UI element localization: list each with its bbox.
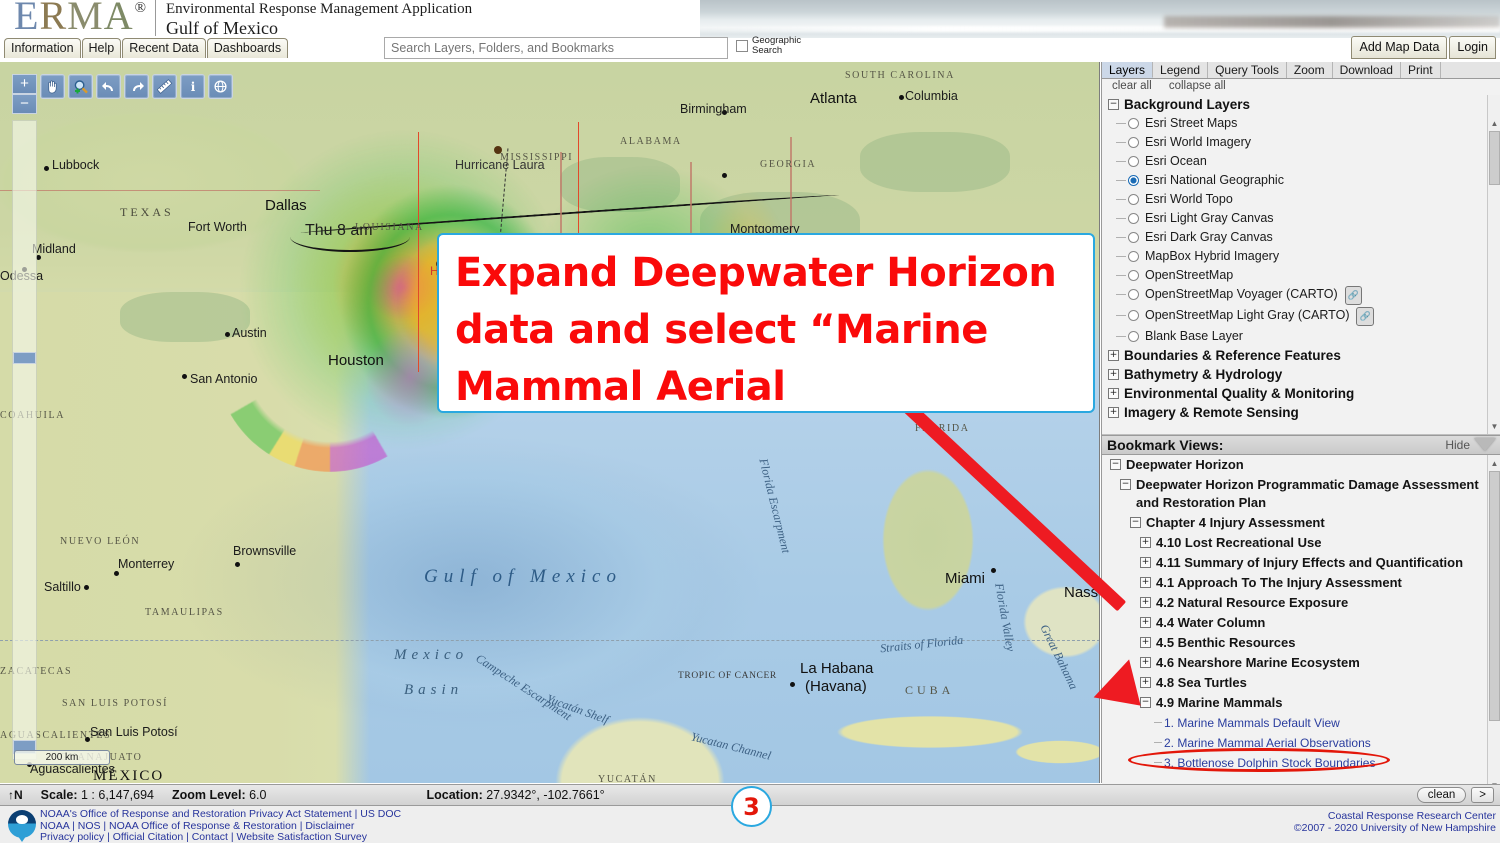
layer-group-label: Imagery & Remote Sensing <box>1124 404 1299 421</box>
footer-credit-line-2: ©2007 - 2020 University of New Hampshire <box>1294 823 1496 835</box>
info-icon[interactable]: i <box>180 74 205 99</box>
location-value: 27.9342°, -102.7661° <box>486 788 604 802</box>
layer-label: Esri Dark Gray Canvas <box>1145 229 1273 246</box>
bookmark-folder[interactable]: + 4.1 Approach To The Injury Assessment <box>1102 573 1500 593</box>
location-label: Location: <box>426 788 482 802</box>
layer-group-label: Bathymetry & Hydrology <box>1124 366 1282 383</box>
zoom-to-area-icon[interactable] <box>68 74 93 99</box>
tab-zoom[interactable]: Zoom <box>1287 62 1333 78</box>
layer-item[interactable]: Esri Light Gray Canvas <box>1102 209 1500 228</box>
expand-icon[interactable]: + <box>1108 369 1119 380</box>
layer-tools-row: clear all collapse all <box>1102 79 1500 95</box>
svg-text:i: i <box>190 80 195 94</box>
noaa-logo-icon <box>8 810 36 840</box>
forecast-cone-left <box>418 132 419 372</box>
layer-tree-scroll-area[interactable]: − Background Layers Esri Street Maps Esr… <box>1102 95 1500 435</box>
bookmark-link[interactable]: 3. Bottlenose Dolphin Stock Boundaries <box>1102 753 1500 773</box>
layer-item[interactable]: MapBox Hybrid Imagery <box>1102 247 1500 266</box>
map-label-state: LOUISIANA <box>355 222 424 233</box>
scroll-up-arrow-icon[interactable]: ▲ <box>1488 457 1500 469</box>
scrollbar-thumb[interactable] <box>1489 131 1500 185</box>
map-label-state: SOUTH CAROLINA <box>845 70 955 81</box>
zoom-in-button[interactable]: + <box>12 74 37 94</box>
bookmark-folder[interactable]: + 4.6 Nearshore Marine Ecosystem <box>1102 653 1500 673</box>
layer-item[interactable]: Esri World Topo <box>1102 190 1500 209</box>
collapse-icon[interactable]: − <box>1110 459 1121 470</box>
bookmark-label: 4.10 Lost Recreational Use <box>1156 534 1321 552</box>
right-side-panel: Layers Legend Query Tools Zoom Download … <box>1101 62 1500 783</box>
zoom-out-button[interactable]: − <box>12 94 37 114</box>
clean-button[interactable]: clean <box>1417 787 1467 803</box>
layer-item[interactable]: Esri Dark Gray Canvas <box>1102 228 1500 247</box>
bookmark-label: 4.8 Sea Turtles <box>1156 674 1247 692</box>
layer-radio-selected[interactable] <box>1128 175 1139 186</box>
layer-radio[interactable] <box>1128 289 1139 300</box>
scale-value: 1 : 6,147,694 <box>81 788 154 802</box>
layer-item[interactable]: Esri Ocean <box>1102 152 1500 171</box>
layer-radio[interactable] <box>1128 251 1139 262</box>
measure-ruler-icon[interactable] <box>152 74 177 99</box>
map-label-tropic-of-cancer: TROPIC OF CANCER <box>678 671 777 681</box>
layer-label: Esri Street Maps <box>1145 115 1237 132</box>
bookmark-label: 1. Marine Mammals Default View <box>1164 714 1340 732</box>
erma-logo-block: ERMA® Environmental Response Management … <box>14 0 472 38</box>
tree-tick <box>1116 199 1126 200</box>
instruction-callout: Expand Deepwater Horizon data and select… <box>437 233 1095 413</box>
map-label-state: CUBA <box>905 683 954 698</box>
bookmark-link[interactable]: 1. Marine Mammals Default View <box>1102 713 1500 733</box>
layer-label: MapBox Hybrid Imagery <box>1145 248 1279 265</box>
bookmark-label: Chapter 4 Injury Assessment <box>1146 514 1325 532</box>
tree-tick <box>1116 256 1126 257</box>
tab-download[interactable]: Download <box>1333 62 1401 78</box>
external-link-icon[interactable]: 🔗 <box>1345 286 1362 305</box>
tree-tick <box>1116 275 1126 276</box>
erma-application-window: ERMA® Environmental Response Management … <box>0 0 1500 843</box>
scroll-down-arrow-icon[interactable]: ▼ <box>1488 420 1500 432</box>
map-tool-bar: i <box>40 74 233 99</box>
map-label-city: Austin <box>232 326 267 340</box>
app-header: ERMA® Environmental Response Management … <box>0 0 1500 38</box>
layer-item[interactable]: OpenStreetMap Voyager (CARTO) 🔗 <box>1102 285 1500 306</box>
main-tab-bar: Information Help Recent Data Dashboards <box>4 38 288 58</box>
tree-tick <box>1116 142 1126 143</box>
tab-legend[interactable]: Legend <box>1153 62 1208 78</box>
tree-tick <box>1116 180 1126 181</box>
footer-credit-line-1: Coastal Response Research Center <box>1294 811 1496 823</box>
collapse-icon[interactable]: − <box>1120 479 1131 490</box>
layer-radio[interactable] <box>1128 270 1139 281</box>
expand-icon[interactable]: + <box>1140 657 1151 668</box>
pan-hand-icon[interactable] <box>40 74 65 99</box>
tab-recent-data[interactable]: Recent Data <box>122 38 205 58</box>
map-label-state: ALABAMA <box>620 136 682 147</box>
bookmark-folder-marine-mammals[interactable]: − 4.9 Marine Mammals <box>1102 693 1500 713</box>
registered-mark-icon: ® <box>135 0 147 18</box>
geographic-search-toggle[interactable]: Geographic Search <box>736 36 801 56</box>
layer-label: OpenStreetMap Light Gray (CARTO) <box>1145 307 1349 324</box>
layer-group-label: Environmental Quality & Monitoring <box>1124 385 1354 402</box>
map-label-city: Saltillo <box>44 580 81 594</box>
zoom-level-label: Zoom Level: <box>172 788 246 802</box>
erma-wordmark: ERMA® <box>14 0 147 34</box>
map-label-state: TAMAULIPAS <box>145 607 224 618</box>
scale-bar: 200 km <box>14 750 110 765</box>
layer-group-bathymetry[interactable]: + Bathymetry & Hydrology <box>1102 365 1500 384</box>
tab-dashboards[interactable]: Dashboards <box>207 38 288 58</box>
map-label-state: GEORGIA <box>760 159 816 170</box>
expand-panel-button[interactable]: > <box>1471 787 1494 803</box>
tab-query-tools[interactable]: Query Tools <box>1208 62 1287 78</box>
map-label-city: Atlanta <box>810 90 857 107</box>
bookmark-link-marine-mammal-aerial-observations[interactable]: 2. Marine Mammal Aerial Observations <box>1102 733 1500 753</box>
terrain-patch <box>860 132 1010 192</box>
tree-tick <box>1116 315 1126 316</box>
map-label-city: Dallas <box>265 197 307 214</box>
tree-tick <box>1116 161 1126 162</box>
collapse-all-button[interactable]: collapse all <box>1169 80 1226 92</box>
tree-tick <box>1116 336 1126 337</box>
zoom-level-value: 6.0 <box>249 788 266 802</box>
layer-group-boundaries[interactable]: + Boundaries & Reference Features <box>1102 346 1500 365</box>
layer-group-environmental[interactable]: + Environmental Quality & Monitoring <box>1102 384 1500 403</box>
expand-icon[interactable]: + <box>1140 617 1151 628</box>
layer-radio[interactable] <box>1128 156 1139 167</box>
footer-credit: Coastal Response Research Center ©2007 -… <box>1294 811 1496 834</box>
map-label-city: Monterrey <box>118 557 174 571</box>
bookmark-folder[interactable]: + 4.11 Summary of Injury Effects and Qua… <box>1102 553 1500 573</box>
scroll-up-arrow-icon[interactable]: ▲ <box>1488 117 1500 129</box>
map-label-city: Fort Worth <box>188 220 247 234</box>
map-label-city: San Antonio <box>190 372 257 386</box>
layer-item[interactable]: OpenStreetMap <box>1102 266 1500 285</box>
tab-information[interactable]: Information <box>4 38 81 58</box>
layer-group-label: Background Layers <box>1124 96 1250 113</box>
layer-label: OpenStreetMap <box>1145 267 1233 284</box>
layer-group-background[interactable]: − Background Layers <box>1102 95 1500 114</box>
map-label-city: Miami <box>945 570 985 587</box>
collapse-icon[interactable]: − <box>1108 99 1119 110</box>
search-input[interactable] <box>384 37 728 59</box>
undo-icon[interactable] <box>96 74 121 99</box>
footer-links: NOAA's Office of Response and Restoratio… <box>40 809 401 843</box>
bookmark-label: 4.2 Natural Resource Exposure <box>1156 594 1348 612</box>
map-label-city: (Havana) <box>805 678 867 695</box>
map-label-city: Houston <box>328 352 384 369</box>
expand-icon[interactable]: + <box>1108 350 1119 361</box>
layer-radio[interactable] <box>1128 331 1139 342</box>
bookmark-label: 4.11 Summary of Injury Effects and Quant… <box>1156 554 1463 572</box>
step-number-badge: 3 <box>731 786 772 827</box>
globe-link-icon[interactable] <box>208 74 233 99</box>
clear-all-button[interactable]: clear all <box>1112 80 1152 92</box>
bookmark-folder[interactable]: + 4.5 Benthic Resources <box>1102 633 1500 653</box>
bookmark-folder[interactable]: − Chapter 4 Injury Assessment <box>1102 513 1500 533</box>
bookmark-folder[interactable]: − Deepwater Horizon Programmatic Damage … <box>1102 475 1500 513</box>
zoom-slider-track[interactable] <box>12 120 37 760</box>
map-label-city: Columbia <box>905 89 958 103</box>
map-label-state: TEXAS <box>120 205 174 220</box>
layer-radio[interactable] <box>1128 118 1139 129</box>
expand-icon[interactable]: + <box>1140 577 1151 588</box>
layer-group-label: Boundaries & Reference Features <box>1124 347 1341 364</box>
tree-tick <box>1116 294 1126 295</box>
zoom-readout: Zoom Level: 6.0 <box>172 788 267 802</box>
bookmark-label: 4.6 Nearshore Marine Ecosystem <box>1156 654 1360 672</box>
expand-icon[interactable]: + <box>1108 407 1119 418</box>
header-banner-photo <box>700 0 1500 38</box>
layer-label: OpenStreetMap Voyager (CARTO) <box>1145 286 1338 303</box>
bookmark-tree-scroll-area[interactable]: − Deepwater Horizon − Deepwater Horizon … <box>1102 455 1500 793</box>
bookmark-scrollbar[interactable]: ▲ ▼ <box>1487 455 1500 793</box>
bookmark-views-header: Bookmark Views: Hide <box>1102 435 1500 455</box>
layer-radio[interactable] <box>1128 137 1139 148</box>
tab-print[interactable]: Print <box>1401 62 1441 78</box>
layer-label: Esri National Geographic <box>1145 172 1284 189</box>
bookmark-folder[interactable]: − Deepwater Horizon <box>1102 455 1500 475</box>
layer-item-selected[interactable]: Esri National Geographic <box>1102 171 1500 190</box>
bookmark-folder[interactable]: + 4.2 Natural Resource Exposure <box>1102 593 1500 613</box>
bookmark-folder[interactable]: + 4.4 Water Column <box>1102 613 1500 633</box>
tree-tick <box>1116 218 1126 219</box>
map-canvas[interactable]: Hurricane Laura Hurricane Laura 10:00 AM… <box>0 62 1100 783</box>
layer-group-imagery[interactable]: + Imagery & Remote Sensing <box>1102 403 1500 422</box>
login-button[interactable]: Login <box>1449 36 1496 59</box>
expand-icon[interactable]: + <box>1140 637 1151 648</box>
zoom-slider-handle[interactable] <box>13 352 36 364</box>
layer-label: Esri Light Gray Canvas <box>1145 210 1274 227</box>
bookmark-label: 4.4 Water Column <box>1156 614 1265 632</box>
geographic-search-label-2: Search <box>752 46 801 56</box>
layer-item[interactable]: Esri Street Maps <box>1102 114 1500 133</box>
app-title-line1: Environmental Response Management Applic… <box>166 0 472 18</box>
map-label-city: Midland <box>32 242 76 256</box>
expand-icon[interactable]: + <box>1140 537 1151 548</box>
scrollbar-thumb[interactable] <box>1489 471 1500 721</box>
map-label-state: NUEVO LEÓN <box>60 536 140 547</box>
bookmark-label: 4.9 Marine Mammals <box>1156 694 1282 712</box>
layer-radio[interactable] <box>1128 310 1139 321</box>
expand-icon[interactable]: + <box>1140 557 1151 568</box>
tree-tick <box>1116 237 1126 238</box>
map-label-ocean: Mexico <box>394 647 468 664</box>
collapse-icon[interactable]: − <box>1130 517 1141 528</box>
footer-link-line-1[interactable]: NOAA's Office of Response and Restoratio… <box>40 809 401 821</box>
layer-item[interactable]: Blank Base Layer <box>1102 327 1500 346</box>
bookmark-folder[interactable]: + 4.10 Lost Recreational Use <box>1102 533 1500 553</box>
redo-icon[interactable] <box>124 74 149 99</box>
bookmark-hide-button[interactable]: Hide <box>1445 438 1470 452</box>
layer-radio[interactable] <box>1128 232 1139 243</box>
layer-label: Blank Base Layer <box>1145 328 1243 345</box>
scale-readout: Scale: 1 : 6,147,694 <box>41 788 154 802</box>
tree-tick <box>1116 123 1126 124</box>
add-map-data-button[interactable]: Add Map Data <box>1351 36 1447 59</box>
external-link-icon[interactable]: 🔗 <box>1356 307 1373 326</box>
scale-label: Scale: <box>41 788 78 802</box>
map-label-city: La Habana <box>800 660 873 677</box>
map-label-city: Lubbock <box>52 158 99 172</box>
nav-strip: Information Help Recent Data Dashboards … <box>0 38 1500 60</box>
zoom-control[interactable]: + − <box>12 74 37 114</box>
bookmark-label: 2. Marine Mammal Aerial Observations <box>1164 734 1371 752</box>
expand-icon[interactable]: + <box>1108 388 1119 399</box>
map-label-state: SAN LUIS POTOSÍ <box>62 698 168 709</box>
layer-label: Esri Ocean <box>1145 153 1207 170</box>
bookmark-label: 4.1 Approach To The Injury Assessment <box>1156 574 1402 592</box>
instruction-callout-text: Expand Deepwater Horizon data and select… <box>455 245 1079 413</box>
geographic-search-checkbox[interactable] <box>736 40 748 52</box>
expand-icon[interactable]: + <box>1140 597 1151 608</box>
bookmark-label: 4.5 Benthic Resources <box>1156 634 1295 652</box>
map-label-city: San Luis Potosí <box>90 725 178 739</box>
map-label-state: MISSISSIPPI <box>500 152 573 163</box>
map-label-state: YUCATÁN <box>598 774 657 783</box>
panel-tab-bar: Layers Legend Query Tools Zoom Download … <box>1102 62 1500 79</box>
bookmark-label: 3. Bottlenose Dolphin Stock Boundaries <box>1164 754 1375 772</box>
chevron-down-icon[interactable] <box>1474 438 1496 451</box>
north-arrow-icon: ↑N <box>8 788 23 802</box>
tab-layers[interactable]: Layers <box>1102 62 1153 78</box>
bookmark-folder[interactable]: + 4.8 Sea Turtles <box>1102 673 1500 693</box>
layer-item[interactable]: OpenStreetMap Light Gray (CARTO) 🔗 <box>1102 306 1500 327</box>
footer-link-line-3[interactable]: Privacy policy | Official Citation | Con… <box>40 832 401 843</box>
map-label-city: Birmingham <box>680 102 747 116</box>
location-readout: Location: 27.9342°, -102.7661° <box>426 788 604 802</box>
layer-radio[interactable] <box>1128 194 1139 205</box>
layer-label: Esri World Imagery <box>1145 134 1251 151</box>
map-label-city: Brownsville <box>233 544 296 558</box>
app-title-line2: Gulf of Mexico <box>166 18 472 38</box>
map-label-ocean: Gulf of Mexico <box>424 566 622 588</box>
layer-item[interactable]: Esri World Imagery <box>1102 133 1500 152</box>
status-bar-buttons: clean > <box>1417 787 1494 803</box>
layer-label: Esri World Topo <box>1145 191 1233 208</box>
header-button-group: Add Map Data Login <box>1351 36 1496 59</box>
bookmark-label: Deepwater Horizon <box>1126 456 1244 474</box>
bookmark-label: Deepwater Horizon Programmatic Damage As… <box>1136 476 1484 512</box>
bookmark-views-title: Bookmark Views: <box>1107 437 1223 453</box>
tab-help[interactable]: Help <box>82 38 122 58</box>
layer-radio[interactable] <box>1128 213 1139 224</box>
logo-divider <box>155 0 156 36</box>
map-label-ocean: Basin <box>404 682 463 699</box>
layer-tree-scrollbar[interactable]: ▲ ▼ <box>1487 95 1500 434</box>
